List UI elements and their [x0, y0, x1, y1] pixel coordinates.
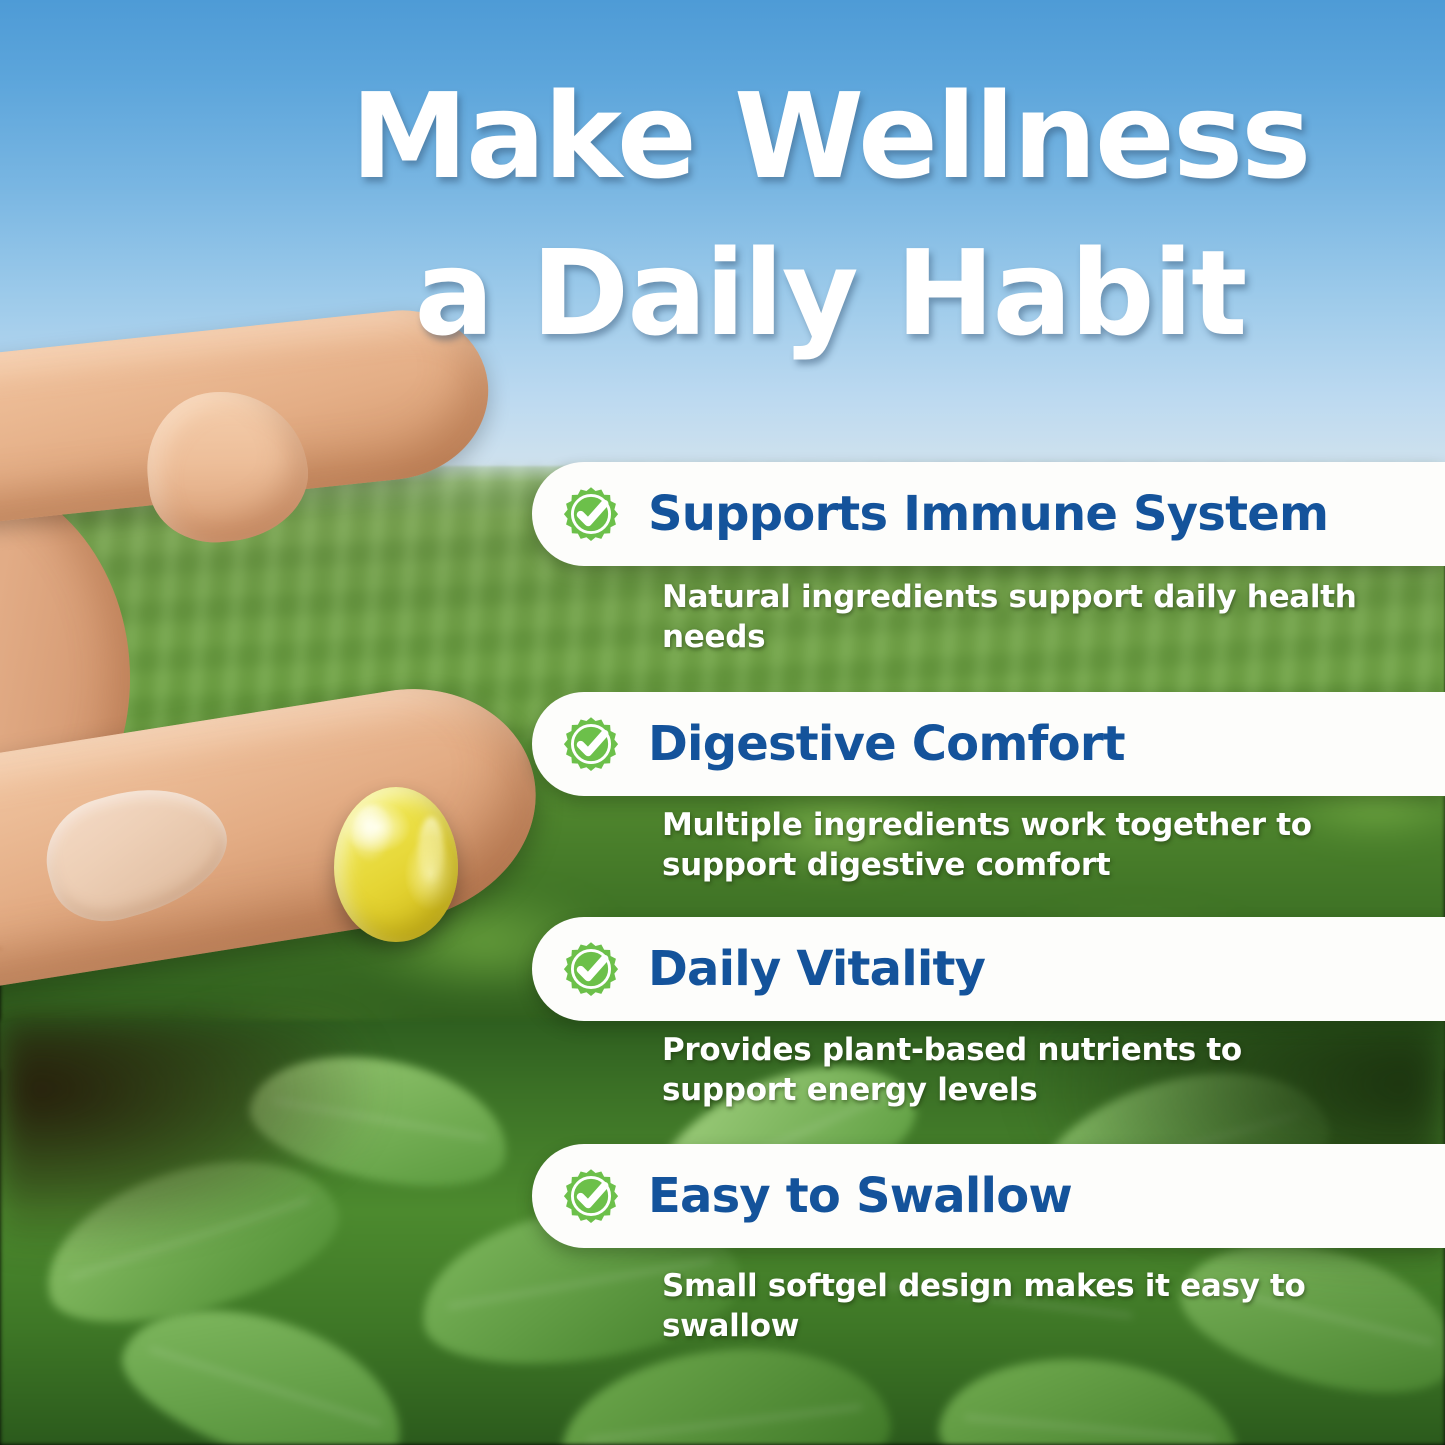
product-infographic: Make Wellness a Daily Habit Supports Imm… — [0, 0, 1445, 1445]
feature-card[interactable]: Digestive Comfort — [532, 692, 1445, 796]
check-badge-icon — [562, 485, 620, 543]
feature-title: Daily Vitality — [648, 945, 985, 993]
feature-title: Supports Immune System — [648, 490, 1328, 538]
feature-list: Supports Immune System Natural ingredien… — [0, 0, 1445, 1445]
feature-card[interactable]: Supports Immune System — [532, 462, 1445, 566]
feature-description: Provides plant-based nutrients to suppor… — [662, 1031, 1422, 1110]
feature-description: Multiple ingredients work together to su… — [662, 806, 1422, 885]
feature-description: Natural ingredients support daily health… — [662, 578, 1422, 657]
check-badge-icon — [562, 1167, 620, 1225]
feature-title: Easy to Swallow — [648, 1172, 1072, 1220]
check-badge-icon — [562, 715, 620, 773]
feature-card[interactable]: Daily Vitality — [532, 917, 1445, 1021]
feature-card[interactable]: Easy to Swallow — [532, 1144, 1445, 1248]
feature-title: Digestive Comfort — [648, 720, 1125, 768]
check-badge-icon — [562, 940, 620, 998]
feature-description: Small softgel design makes it easy to sw… — [662, 1267, 1422, 1346]
